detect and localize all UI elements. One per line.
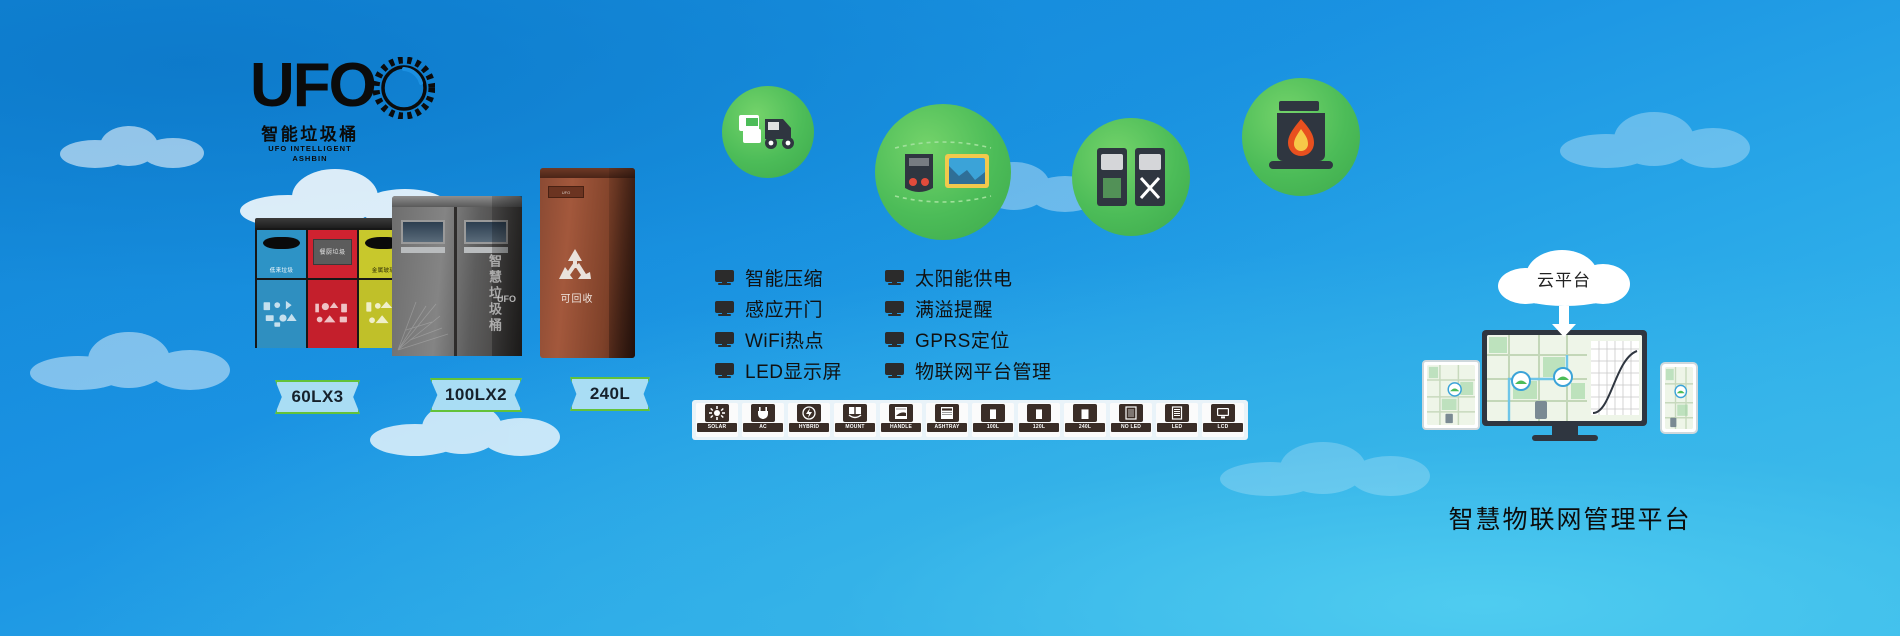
feature-column-left: 智能压缩 感应开门 WiFi热点 LED显示屏	[715, 262, 842, 386]
spec-tile-label: MOUNT	[835, 423, 875, 432]
spec-tile-label: NO LED	[1111, 423, 1151, 432]
monitor-icon	[885, 301, 904, 316]
spec-icon-strip: SOLAR AC HYBRID M	[692, 400, 1248, 440]
bin3-label-blue: 低来垃圾	[257, 266, 306, 274]
bin-icon	[981, 404, 1005, 422]
bin2-divider	[454, 207, 457, 356]
ufo-logo: UFO 智能垃圾桶 UFO INTELLIGENT ASHBIN	[250, 55, 370, 160]
bin2-brand-mark: UFO	[497, 294, 516, 304]
spec-tile-ashtray: ASHTRAY	[926, 403, 968, 437]
truck-icon	[722, 86, 814, 178]
feature-item: 感应开门	[715, 293, 842, 324]
bin1-panel-label: UFO	[548, 186, 584, 198]
phone-screen	[1665, 367, 1693, 429]
compaction-circle	[875, 104, 1011, 240]
badge-60lx3: 60LX3	[275, 380, 360, 414]
spec-tile-label: LCD	[1203, 423, 1243, 432]
bin3-upper-red: 餐厨垃圾	[308, 230, 357, 280]
badge-240l: 240L	[570, 377, 650, 411]
bin2-tag-left	[401, 247, 445, 253]
cloud-platform-label: 云平台	[1498, 266, 1630, 291]
bin-icon	[1073, 404, 1097, 422]
fire-detection-circle	[1242, 78, 1360, 196]
spec-tile-label: HYBRID	[789, 423, 829, 432]
recycle-icon	[554, 246, 596, 288]
bin1-side-shadow	[609, 168, 635, 358]
dual-bin-icon	[1072, 118, 1190, 236]
plug-icon	[751, 404, 775, 422]
spec-tile-100l: 100L	[972, 403, 1014, 437]
bin3-slot-icon	[263, 237, 300, 249]
bin2-graphic-pattern	[396, 300, 454, 352]
three-compartment-bin: 低来垃圾	[255, 218, 410, 348]
blank-panel-icon	[1119, 404, 1143, 422]
monitor-icon	[885, 270, 904, 285]
logo-english-name: UFO INTELLIGENT ASHBIN	[250, 144, 370, 164]
desktop-monitor	[1482, 330, 1647, 426]
feature-item: GPRS定位	[885, 324, 1052, 355]
spec-tile-label: HANDLE	[881, 423, 921, 432]
led-panel-icon	[1165, 404, 1189, 422]
logo-chinese-name: 智能垃圾桶	[250, 125, 370, 144]
cloud-platform-badge: 云平台	[1498, 250, 1630, 306]
bin3-label-red: 餐厨垃圾	[313, 239, 352, 265]
spec-tile-ac: AC	[742, 403, 784, 437]
feature-label: 满溢提醒	[915, 295, 993, 322]
spec-tile-label: 240L	[1065, 423, 1105, 432]
monitor-icon	[715, 332, 734, 347]
platform-caption: 智慧物联网管理平台	[1390, 500, 1750, 536]
bin3-compartment: 低来垃圾	[257, 230, 308, 346]
lcd-screen-icon	[1211, 404, 1235, 422]
monitor-base	[1532, 435, 1598, 441]
banner-stage: UFO 智能垃圾桶 UFO INTELLIGENT ASHBIN 低来垃圾	[0, 0, 1900, 636]
phone-device	[1660, 362, 1698, 434]
monitor-icon	[885, 363, 904, 378]
bolt-icon	[797, 404, 821, 422]
cloud-decoration	[1220, 440, 1430, 496]
bin3-body: 低来垃圾	[255, 228, 410, 348]
monitor-icon	[715, 363, 734, 378]
spec-tile-label: 120L	[1019, 423, 1059, 432]
spec-tile-hybrid: HYBRID	[788, 403, 830, 437]
fire-icon	[1242, 78, 1360, 196]
cloud-decoration	[60, 120, 210, 170]
feature-item: 满溢提醒	[885, 293, 1052, 324]
logo-ring-icon	[373, 57, 435, 119]
sun-icon	[705, 404, 729, 422]
two-compartment-smart-bin: 智慧垃圾桶 UFO	[392, 196, 522, 356]
monitor-icon	[715, 301, 734, 316]
feature-label: LED显示屏	[745, 357, 842, 384]
iot-platform-illustration: 云平台	[1420, 250, 1720, 450]
feature-item: 太阳能供电	[885, 262, 1052, 293]
spec-tile-mount: MOUNT	[834, 403, 876, 437]
spec-tile-label: AC	[743, 423, 783, 432]
monitor-icon	[715, 270, 734, 285]
down-arrow-icon	[1550, 306, 1578, 338]
handle-icon	[889, 404, 913, 422]
feature-item: 智能压缩	[715, 262, 842, 293]
spec-tile-handle: HANDLE	[880, 403, 922, 437]
spec-tile-label: 100L	[973, 423, 1013, 432]
mount-icon	[843, 404, 867, 422]
recycling-bin-240l: UFO 可回收	[540, 168, 635, 358]
spec-tile-label: ASHTRAY	[927, 423, 967, 432]
bin1-label: 可回收	[544, 290, 610, 305]
logo-wordmark: UFO	[250, 55, 375, 117]
feature-label: WiFi热点	[745, 326, 824, 353]
spec-tile-label: LED	[1157, 423, 1197, 432]
feature-column-right: 太阳能供电 满溢提醒 GPRS定位 物联网平台管理	[885, 262, 1052, 386]
feature-item: WiFi热点	[715, 324, 842, 355]
spec-tile-solar: SOLAR	[696, 403, 738, 437]
bin3-compartment: 餐厨垃圾	[308, 230, 359, 346]
spec-tile-led: LED	[1156, 403, 1198, 437]
feature-label: 太阳能供电	[915, 264, 1013, 291]
monitor-icon	[885, 332, 904, 347]
dual-bin-circle	[1072, 118, 1190, 236]
spec-tile-120l: 120L	[1018, 403, 1060, 437]
spec-tile-no-led: NO LED	[1110, 403, 1152, 437]
tablet-device	[1422, 360, 1480, 430]
feature-item: LED显示屏	[715, 355, 842, 386]
feature-label: 智能压缩	[745, 264, 823, 291]
bin-icon	[1027, 404, 1051, 422]
cloud-decoration	[1560, 110, 1750, 168]
feature-item: 物联网平台管理	[885, 355, 1052, 386]
badge-100lx2: 100LX2	[430, 378, 522, 412]
collection-truck-circle	[722, 86, 814, 178]
ashtray-icon	[935, 404, 959, 422]
bin3-upper-blue: 低来垃圾	[257, 230, 306, 280]
spec-tile-label: SOLAR	[697, 423, 737, 432]
feature-label: 物联网平台管理	[915, 357, 1052, 384]
bin3-lower-red	[308, 280, 357, 348]
bin3-top-cap	[255, 218, 410, 228]
feature-label: 感应开门	[745, 295, 823, 322]
tablet-screen	[1427, 365, 1475, 425]
feature-label: GPRS定位	[915, 326, 1010, 353]
compactor-icon	[875, 104, 1011, 240]
bin3-lower-blue	[257, 280, 306, 348]
bin2-screen-left	[401, 220, 445, 244]
logo-wordmark-row: UFO	[250, 55, 370, 127]
cloud-decoration	[30, 330, 230, 390]
spec-tile-lcd: LCD	[1202, 403, 1244, 437]
monitor-stand	[1552, 426, 1578, 435]
spec-tile-240l: 240L	[1064, 403, 1106, 437]
monitor-screen	[1487, 335, 1642, 421]
